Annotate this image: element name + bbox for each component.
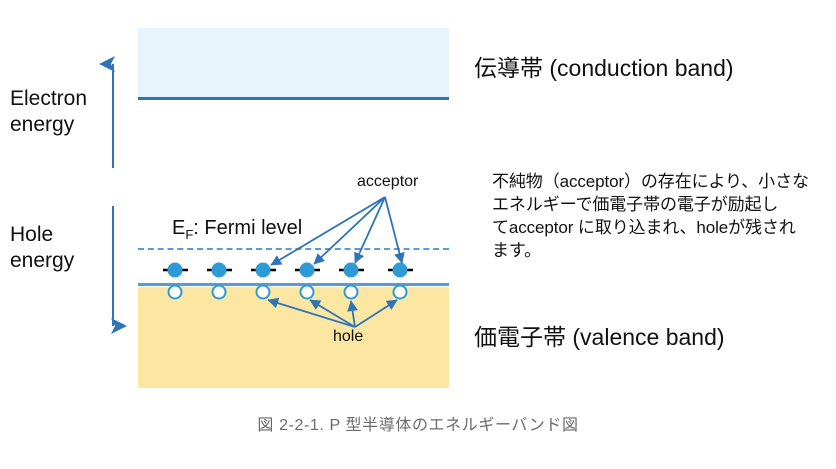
electron-marker	[212, 263, 227, 278]
electron-markers	[168, 263, 408, 278]
conduction-band-region	[138, 28, 449, 99]
electron-energy-axis-label: Electron energy	[10, 86, 110, 138]
valence-band-region	[138, 287, 449, 388]
electron-marker	[168, 263, 183, 278]
fermi-label-text: : Fermi level	[193, 217, 302, 239]
fermi-level-label: EF: Fermi level	[172, 217, 302, 242]
valence-band-edge-line	[138, 283, 449, 286]
acceptor-callout-label: acceptor	[357, 173, 418, 191]
electron-marker	[300, 263, 315, 278]
hole-energy-axis-label: Hole energy	[10, 222, 110, 274]
fermi-level-line	[138, 248, 449, 250]
hole-callout-label: hole	[333, 328, 363, 346]
electron-marker	[344, 263, 359, 278]
electron-marker	[393, 263, 408, 278]
electron-marker	[256, 263, 271, 278]
conduction-band-edge-line	[138, 97, 449, 100]
explanation-paragraph: 不純物（acceptor）の存在により、小さな エネルギーで価電子帯の電子が励起…	[492, 170, 827, 262]
fermi-symbol: E	[172, 217, 185, 239]
conduction-band-name-label: 伝導帯 (conduction band)	[474, 49, 734, 83]
figure-canvas: Electron energy Hole energy EF: Fermi le…	[0, 0, 836, 469]
valence-band-name-label: 価電子帯 (valence band)	[474, 318, 725, 352]
figure-caption: 図 2-2-1. P 型半導体のエネルギーバンド図	[0, 411, 836, 435]
